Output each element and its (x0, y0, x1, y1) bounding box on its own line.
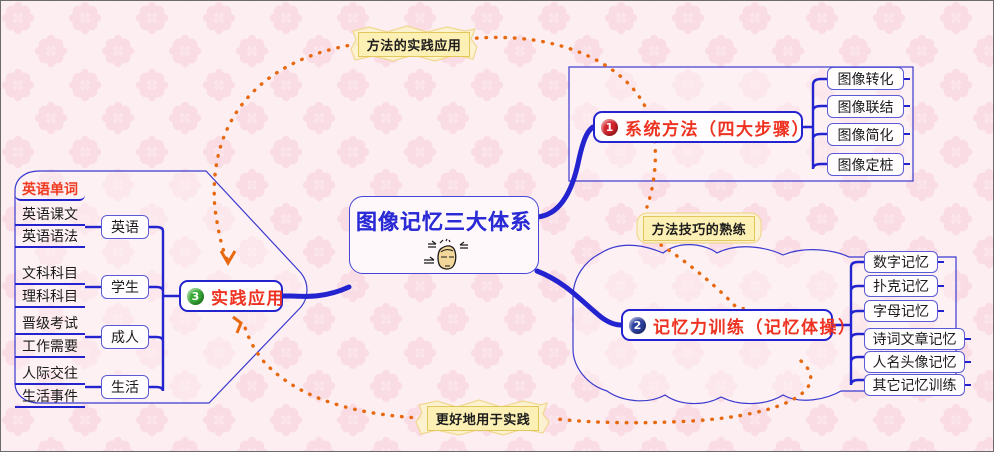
callout-top-text: 方法的实践应用 (358, 32, 471, 57)
branch-badge-1: 1 (601, 119, 618, 136)
leaf-branch-2-3[interactable]: 诗词文章记忆 (864, 328, 965, 350)
leaf-branch-3-0-0[interactable]: 英语单词 (15, 179, 85, 201)
branch-node-3[interactable]: 3 实践应用 (179, 280, 283, 312)
callout-right-text: 方法技巧的熟练 (643, 216, 756, 241)
branch-badge-2: 2 (629, 317, 646, 334)
leaf-branch-3-1-0[interactable]: 文科科目 (15, 263, 85, 285)
node-layer: 图像记忆三大体系 1 系统方法（四大步骤） 图像转化 图像联结 图像简化 图像 (1, 1, 993, 451)
callout-bottom[interactable]: 更好地用于实践 (413, 399, 553, 437)
callout-bottom-text: 更好地用于实践 (427, 406, 540, 431)
leaf-branch-3-1-1[interactable]: 理科科目 (15, 286, 85, 308)
leaf-branch-3-3-0[interactable]: 人际交往 (15, 363, 85, 385)
page-title: 图像记忆三大体系 (356, 206, 532, 236)
branch-label-3: 实践应用 (211, 284, 285, 309)
leaf-branch-3-0-1[interactable]: 英语课文 (15, 204, 85, 226)
leaf-branch-3-2-0[interactable]: 晋级考试 (15, 313, 85, 335)
leaf-branch-1-1[interactable]: 图像联结 (827, 95, 904, 118)
subnode-branch-3-3[interactable]: 生活 (101, 375, 149, 399)
callout-top[interactable]: 方法的实践应用 (347, 25, 481, 63)
leaf-branch-3-3-1[interactable]: 生活事件 (15, 386, 85, 408)
callout-right[interactable]: 方法技巧的熟练 (633, 209, 765, 247)
branch-label-1: 系统方法（四大步骤） (625, 115, 810, 140)
leaf-branch-2-2[interactable]: 字母记忆 (864, 300, 938, 322)
mindmap-canvas: 图像记忆三大体系 1 系统方法（四大步骤） 图像转化 图像联结 图像简化 图像 (0, 0, 994, 452)
leaf-branch-1-2[interactable]: 图像简化 (827, 123, 904, 146)
leaf-branch-1-3[interactable]: 图像定桩 (827, 153, 904, 176)
leaf-branch-3-2-1[interactable]: 工作需要 (15, 336, 85, 358)
subnode-branch-3-1[interactable]: 学生 (101, 275, 149, 299)
leaf-branch-1-0[interactable]: 图像转化 (827, 67, 904, 90)
leaf-branch-2-5[interactable]: 其它记忆训练 (864, 374, 965, 396)
subnode-branch-3-0[interactable]: 英语 (101, 215, 149, 239)
branch-node-2[interactable]: 2 记忆力训练（记忆体操） (621, 309, 833, 341)
leaf-branch-2-4[interactable]: 人名头像记忆 (864, 351, 965, 373)
leaf-branch-3-0-2[interactable]: 英语语法 (15, 226, 85, 248)
leaf-branch-2-1[interactable]: 扑克记忆 (864, 275, 938, 297)
branch-badge-3: 3 (187, 288, 204, 305)
branch-label-2: 记忆力训练（记忆体操） (653, 313, 857, 338)
thinking-face-icon (414, 238, 474, 272)
root-node[interactable]: 图像记忆三大体系 (349, 196, 539, 274)
branch-node-1[interactable]: 1 系统方法（四大步骤） (593, 111, 803, 143)
subnode-branch-3-2[interactable]: 成人 (101, 325, 149, 349)
leaf-branch-2-0[interactable]: 数字记忆 (864, 251, 938, 273)
